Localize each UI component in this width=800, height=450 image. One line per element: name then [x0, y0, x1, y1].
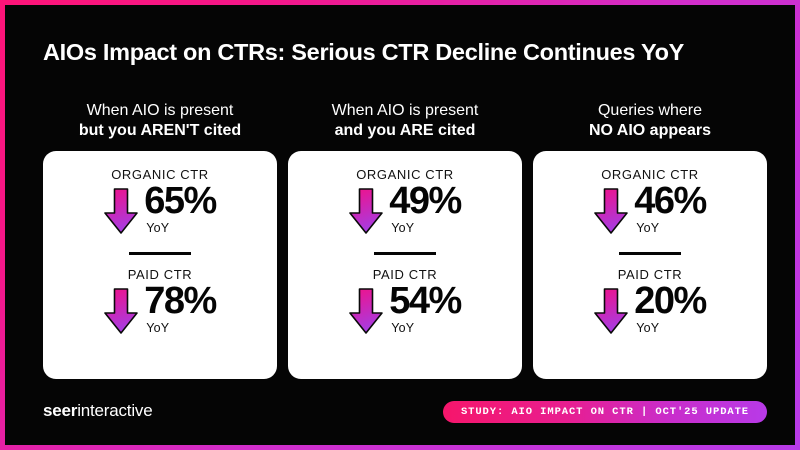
- column-heading-line1: When AIO is present: [43, 101, 277, 121]
- metric-period: YoY: [391, 321, 414, 335]
- arrow-down-icon: [349, 288, 383, 339]
- metric-period: YoY: [636, 221, 659, 235]
- metric-row: 78% YoY: [57, 284, 263, 339]
- metric-value: 65%: [144, 184, 216, 220]
- metric-paid-ctr: PAID CTR 20% YoY: [547, 267, 753, 339]
- gradient-frame: AIOs Impact on CTRs: Serious CTR Decline…: [0, 0, 800, 450]
- brand-logo: seerinteractive: [43, 401, 152, 421]
- card-divider: [129, 252, 191, 255]
- metric-row: 49% YoY: [302, 184, 508, 239]
- column-no-aio: Queries where NO AIO appears ORGANIC CTR: [533, 101, 767, 379]
- metric-value-wrap: 49% YoY: [389, 184, 461, 235]
- metric-value-wrap: 54% YoY: [389, 284, 461, 335]
- slide-canvas: AIOs Impact on CTRs: Serious CTR Decline…: [5, 5, 795, 445]
- card-divider: [619, 252, 681, 255]
- metric-value-wrap: 65% YoY: [144, 184, 216, 235]
- metric-organic-ctr: ORGANIC CTR 49% YoY: [302, 167, 508, 239]
- metric-row: 46% YoY: [547, 184, 753, 239]
- metric-row: 20% YoY: [547, 284, 753, 339]
- metric-row: 65% YoY: [57, 184, 263, 239]
- arrow-down-icon: [594, 288, 628, 339]
- metric-value: 49%: [389, 184, 461, 220]
- metric-value: 78%: [144, 284, 216, 320]
- metric-value: 20%: [634, 284, 706, 320]
- metric-period: YoY: [391, 221, 414, 235]
- card-divider: [374, 252, 436, 255]
- metric-card: ORGANIC CTR 46% YoY: [533, 151, 767, 379]
- metric-paid-ctr: PAID CTR 78% YoY: [57, 267, 263, 339]
- metric-period: YoY: [146, 321, 169, 335]
- metric-card: ORGANIC CTR 49% YoY: [288, 151, 522, 379]
- arrow-down-icon: [104, 288, 138, 339]
- arrow-down-icon: [594, 188, 628, 239]
- metric-value: 54%: [389, 284, 461, 320]
- metric-row: 54% YoY: [302, 284, 508, 339]
- status-badge: STUDY: AIO IMPACT ON CTR | OCT'25 UPDATE: [443, 401, 767, 423]
- metric-value-wrap: 20% YoY: [634, 284, 706, 335]
- metric-card: ORGANIC CTR 65% YoY: [43, 151, 277, 379]
- column-heading: When AIO is present and you ARE cited: [288, 101, 522, 142]
- column-heading-line2: but you AREN'T cited: [43, 121, 277, 141]
- column-heading-line2: NO AIO appears: [533, 121, 767, 141]
- page-title: AIOs Impact on CTRs: Serious CTR Decline…: [43, 39, 767, 66]
- metric-organic-ctr: ORGANIC CTR 46% YoY: [547, 167, 753, 239]
- metric-value-wrap: 46% YoY: [634, 184, 706, 235]
- column-aio-not-cited: When AIO is present but you AREN'T cited…: [43, 101, 277, 379]
- column-heading: When AIO is present but you AREN'T cited: [43, 101, 277, 142]
- brand-logo-bold: seer: [43, 401, 77, 420]
- column-heading-line1: When AIO is present: [288, 101, 522, 121]
- column-heading-line2: and you ARE cited: [288, 121, 522, 141]
- column-heading-line1: Queries where: [533, 101, 767, 121]
- column-heading: Queries where NO AIO appears: [533, 101, 767, 142]
- metric-value-wrap: 78% YoY: [144, 284, 216, 335]
- metric-paid-ctr: PAID CTR 54% YoY: [302, 267, 508, 339]
- column-aio-cited: When AIO is present and you ARE cited OR…: [288, 101, 522, 379]
- metric-organic-ctr: ORGANIC CTR 65% YoY: [57, 167, 263, 239]
- arrow-down-icon: [104, 188, 138, 239]
- arrow-down-icon: [349, 188, 383, 239]
- metric-period: YoY: [636, 321, 659, 335]
- metric-period: YoY: [146, 221, 169, 235]
- metric-value: 46%: [634, 184, 706, 220]
- brand-logo-regular: interactive: [77, 401, 152, 420]
